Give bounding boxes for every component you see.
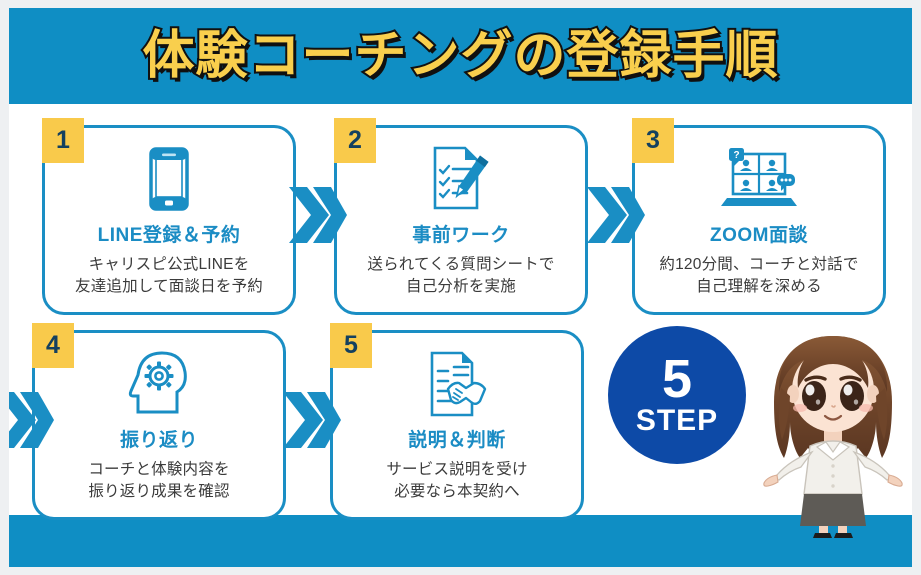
step-body-line: 約120分間、コーチと対話で — [659, 254, 858, 276]
step-body-2: 送られてくる質問シートで 自己分析を実施 — [367, 254, 554, 299]
page-margin-bottom — [0, 567, 921, 575]
checklist-pencil-icon — [429, 142, 493, 216]
step-body-line: 送られてくる質問シートで — [367, 254, 554, 276]
smartphone-icon — [148, 142, 190, 216]
step-number-badge-3: 3 — [632, 118, 674, 163]
step-count-badge: 5 STEP — [608, 326, 746, 464]
page-margin-top — [0, 0, 921, 8]
infographic-root: 体験コーチングの登録手順 1 LINE登録＆予約 キャリスピ公式LINEを 友達… — [0, 0, 921, 575]
step-card-3[interactable]: 3 ? — [632, 125, 886, 315]
step-card-2[interactable]: 2 — [334, 125, 588, 315]
step-title-4: 振り返り — [120, 425, 198, 452]
chevron-arrow-1-to-2 — [287, 183, 347, 247]
step-body-line: キャリスピ公式LINEを — [75, 254, 263, 276]
step-count-number: 5 — [662, 354, 692, 405]
female-coach-character — [748, 330, 918, 538]
step-card-1[interactable]: 1 LINE登録＆予約 キャリスピ公式LINEを 友達追加して面談日を予約 — [42, 125, 296, 315]
step-body-line: 自己分析を実施 — [367, 276, 554, 298]
step-count-word: STEP — [636, 406, 718, 436]
video-conference-icon: ? — [719, 142, 799, 216]
step-body-5: サービス説明を受け 必要なら本契約へ — [386, 459, 527, 504]
step-title-5: 説明＆判断 — [408, 425, 506, 452]
document-handshake-icon — [422, 347, 492, 421]
page-margin-right — [912, 0, 921, 575]
step-title-2: 事前ワーク — [412, 220, 510, 247]
step-body-3: 約120分間、コーチと対話で 自己理解を深める — [659, 254, 858, 299]
step-number-badge-2: 2 — [334, 118, 376, 163]
step-number-badge-4: 4 — [32, 323, 74, 368]
page-margin-left — [0, 0, 9, 575]
step-title-1: LINE登録＆予約 — [98, 220, 241, 247]
head-gear-icon — [126, 347, 192, 421]
step-number-badge-1: 1 — [42, 118, 84, 163]
step-body-line: 必要なら本契約へ — [386, 481, 527, 503]
step-card-4[interactable]: 4 — [32, 330, 286, 520]
step-number-badge-5: 5 — [330, 323, 372, 368]
step-body-4: コーチと体験内容を 振り返り成果を確認 — [88, 459, 229, 504]
step-body-line: 自己理解を深める — [659, 276, 858, 298]
step-body-line: 振り返り成果を確認 — [88, 481, 229, 503]
step-card-5[interactable]: 5 説明＆判断 — [330, 330, 584, 520]
page-title: 体験コーチングの登録手順 — [142, 30, 778, 82]
step-title-3: ZOOM面談 — [710, 220, 808, 247]
chevron-arrow-4-to-5 — [281, 388, 341, 452]
step-body-line: 友達追加して面談日を予約 — [75, 276, 263, 298]
step-body-1: キャリスピ公式LINEを 友達追加して面談日を予約 — [75, 254, 263, 299]
header-banner: 体験コーチングの登録手順 — [9, 8, 912, 104]
chevron-arrow-2-to-3 — [585, 183, 645, 247]
step-body-line: サービス説明を受け — [386, 459, 527, 481]
step-body-line: コーチと体験内容を — [88, 459, 229, 481]
svg-text:?: ? — [733, 150, 739, 161]
